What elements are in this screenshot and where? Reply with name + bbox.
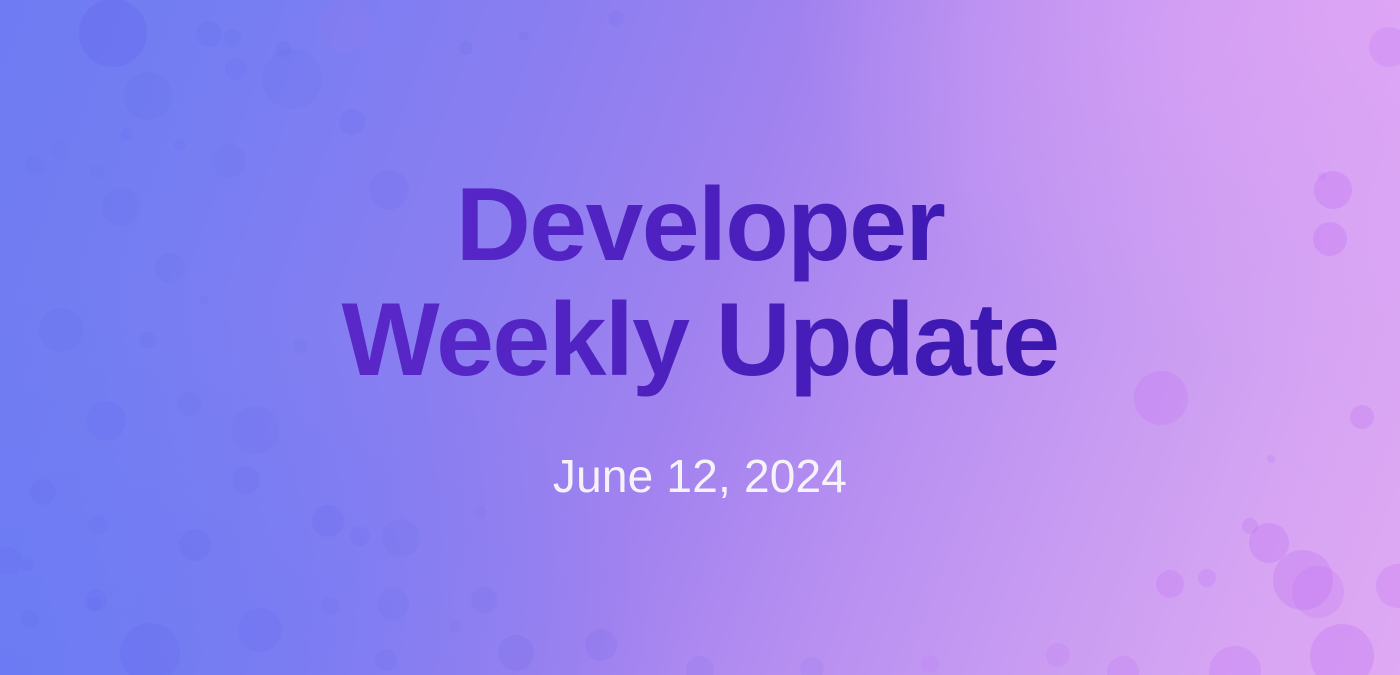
issue-date: June 12, 2024 [553,451,847,502]
page-title-line-1: Developer [341,168,1058,283]
page-title: Developer Weekly Update [341,168,1058,399]
banner-content: Developer Weekly Update June 12, 2024 [0,0,1400,675]
page-title-line-2: Weekly Update [341,283,1058,398]
weekly-update-banner: Developer Weekly Update June 12, 2024 [0,0,1400,675]
